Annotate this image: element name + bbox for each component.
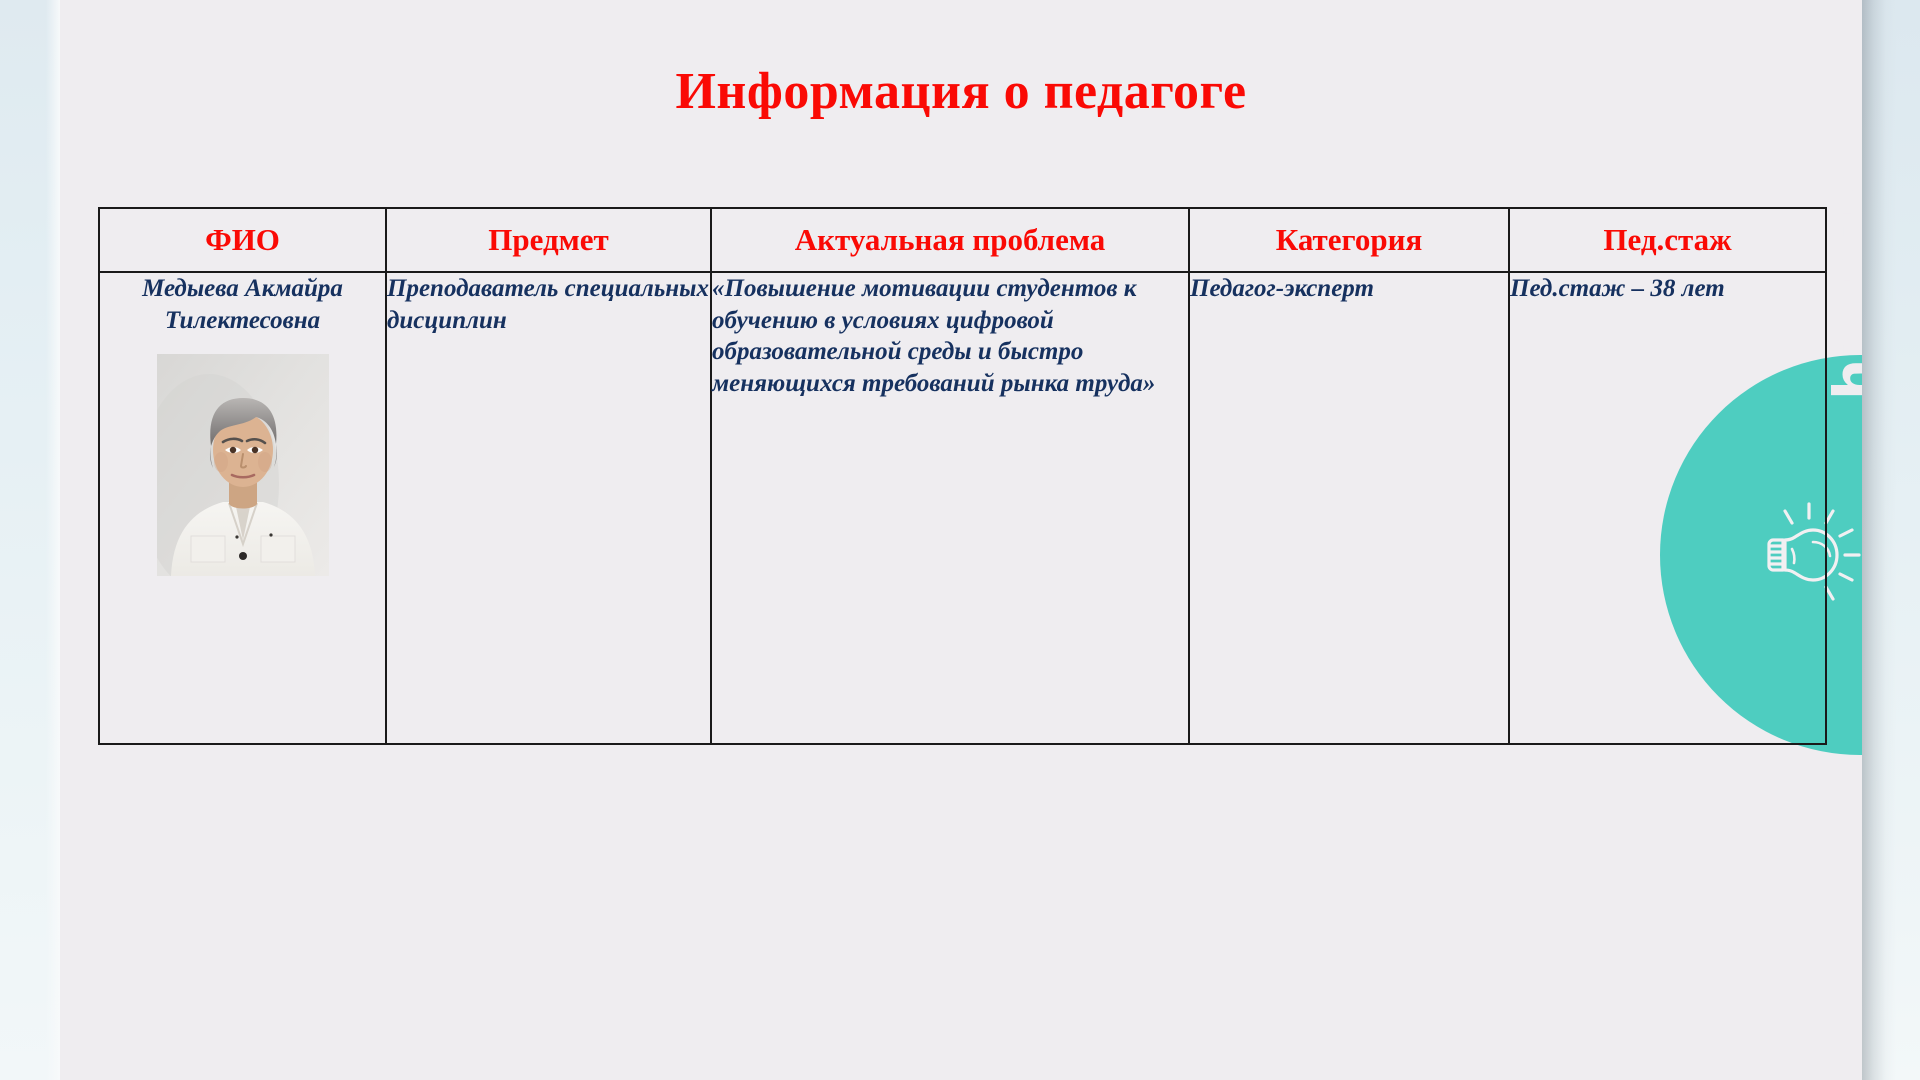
presentation-slide: history (60, 0, 1862, 1080)
cell-fio: Медыева Акмайра Тилектесовна (99, 272, 386, 744)
column-header-category: Категория (1189, 208, 1509, 272)
viewer-right-gradient (1862, 0, 1920, 1080)
teacher-info-table: ФИО Предмет Актуальная проблема Категори… (98, 207, 1827, 745)
table-header: ФИО Предмет Актуальная проблема Категори… (99, 208, 1826, 272)
page-title: Информация о педагоге (60, 62, 1862, 121)
table-row: Медыева Акмайра Тилектесовна (99, 272, 1826, 744)
teacher-photo (157, 354, 329, 576)
decorative-history-label: history (1825, 80, 1862, 400)
viewer-left-gradient (0, 0, 60, 1080)
column-header-fio: ФИО (99, 208, 386, 272)
column-header-experience: Пед.стаж (1509, 208, 1826, 272)
cell-subject: Преподаватель специальных дисциплин (386, 272, 711, 744)
column-header-problem: Актуальная проблема (711, 208, 1189, 272)
cell-problem: «Повышение мотивации студентов к обучени… (711, 272, 1189, 744)
cell-category: Педагог-эксперт (1189, 272, 1509, 744)
avatar (157, 354, 329, 576)
teacher-name: Медыева Акмайра Тилектесовна (100, 273, 385, 336)
slide-viewer: history (0, 0, 1920, 1080)
table-body: Медыева Акмайра Тилектесовна (99, 272, 1826, 744)
cell-experience: Пед.стаж – 38 лет (1509, 272, 1826, 744)
table-header-row: ФИО Предмет Актуальная проблема Категори… (99, 208, 1826, 272)
column-header-subject: Предмет (386, 208, 711, 272)
